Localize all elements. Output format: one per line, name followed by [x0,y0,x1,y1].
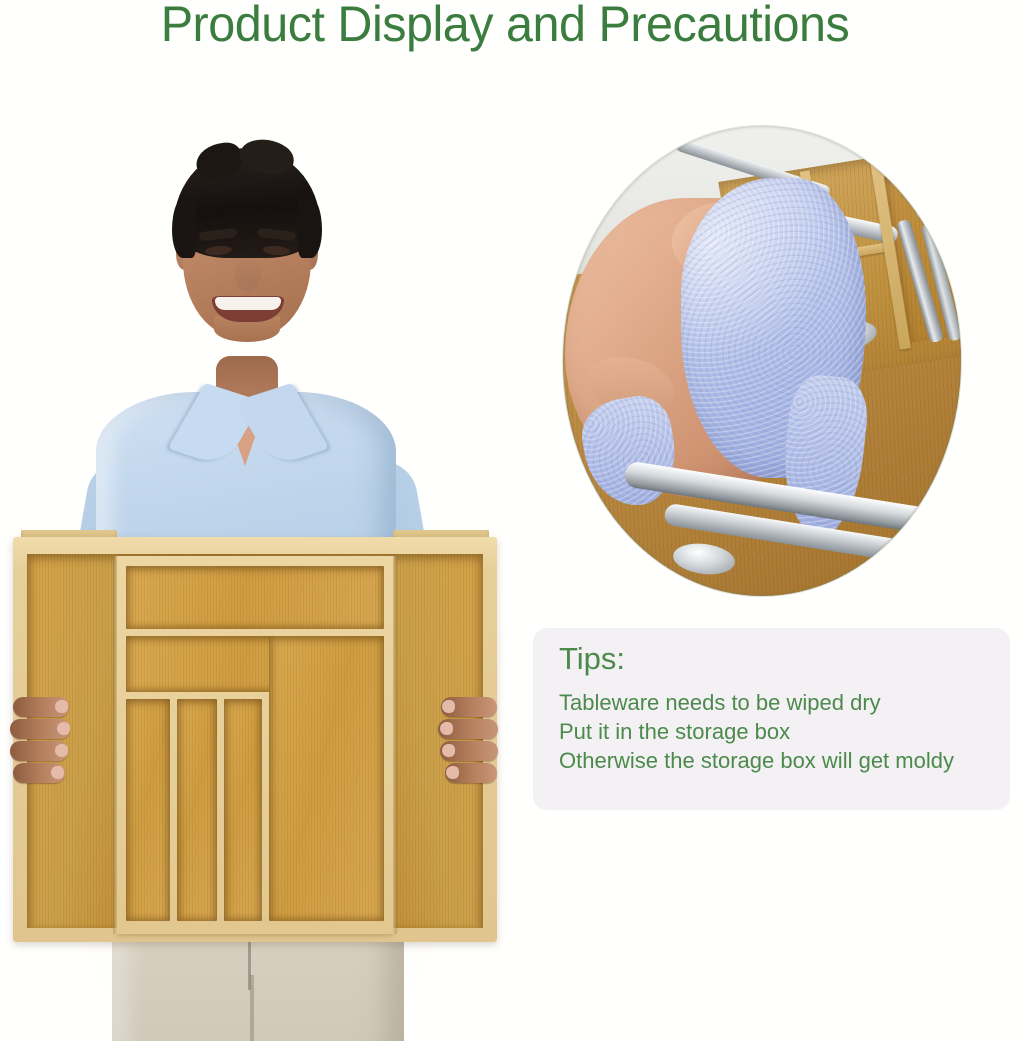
hair-side-left [172,196,196,258]
fingernail [440,722,453,735]
tray-insert-block [117,556,393,934]
photo-man-holding-organizer [0,70,530,1041]
compartment-top-wide [126,566,384,629]
tips-line-list: Tableware needs to be wiped dry Put it i… [559,688,954,775]
tips-panel: Tips: Tableware needs to be wiped dry Pu… [533,628,1010,810]
fingernail [55,744,68,757]
product-display-image: Product Display and Precautions [0,0,1024,1041]
tips-line: Otherwise the storage box will get moldy [559,746,954,775]
hand-right-gripping-tray [435,695,497,791]
fingernail [57,722,70,735]
compartment-tall-right [269,636,384,921]
fingernail [442,744,455,757]
trousers-crease [250,975,254,1041]
page-title: Product Display and Precautions [15,0,995,52]
nose [235,258,261,292]
compartment-narrow-3 [224,699,262,921]
compartment-narrow-1 [126,699,170,921]
tips-line: Tableware needs to be wiped dry [559,688,954,717]
fingernail [446,766,459,779]
hair-side-right [298,196,322,258]
compartment-narrow-2 [177,699,217,921]
photo-wiping-cutlery-circle [563,126,961,596]
teeth [215,297,281,310]
tips-heading: Tips: [559,640,625,678]
fingernail [442,700,455,713]
fingernail [51,766,64,779]
fingernail [55,700,68,713]
tips-line: Put it in the storage box [559,717,954,746]
hand-left-gripping-tray [13,695,75,791]
bamboo-drawer-organizer [13,530,497,942]
